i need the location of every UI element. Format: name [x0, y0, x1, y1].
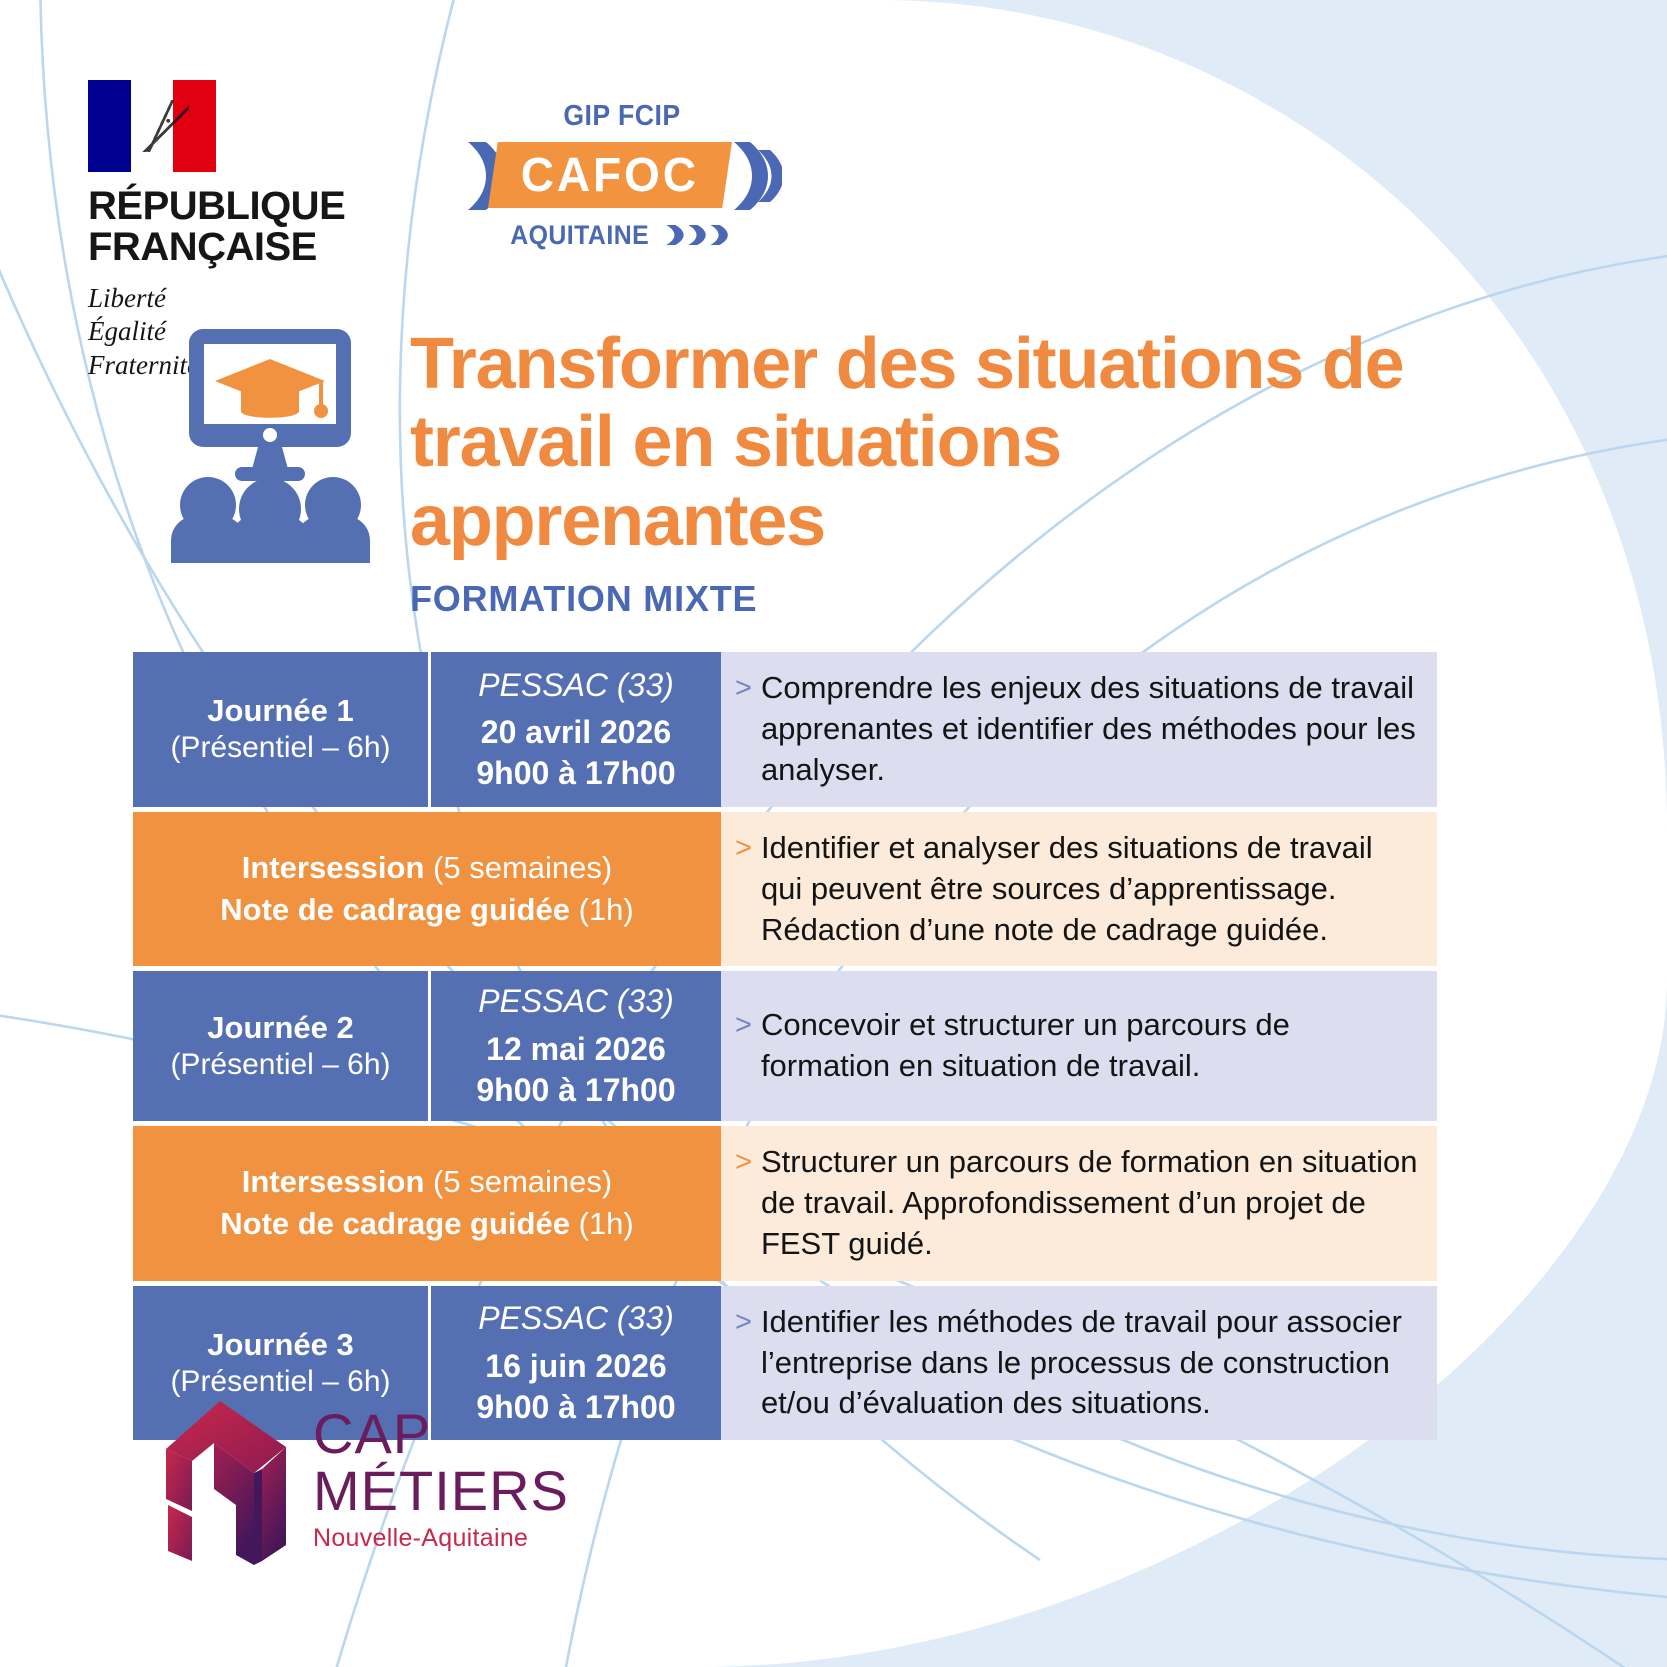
intersession-line-2: Note de cadrage guidée (1h): [220, 889, 633, 931]
session-objective-cell: > Comprendre les enjeux des situations d…: [721, 652, 1437, 807]
page-title: Transformer des situations de travail en…: [410, 325, 1470, 560]
cap-metiers-logo: CAP MÉTIERS Nouvelle-Aquitaine: [158, 1395, 578, 1580]
cafoc-bar-wrap: CAFOC: [462, 136, 782, 216]
session-mode-label: (Présentiel – 6h): [170, 1046, 390, 1084]
session-place-label: PESSAC (33): [478, 1298, 674, 1340]
cafoc-name-bar: CAFOC: [488, 142, 732, 208]
bullet: > Identifier les méthodes de travail pou…: [735, 1302, 1419, 1425]
objective-text: Concevoir et structurer un parcours de f…: [761, 1005, 1419, 1087]
intersession-title: Intersession: [242, 1164, 425, 1199]
session-day-label: Journée 2: [170, 1009, 390, 1046]
cafoc-name-label: CAFOC: [521, 148, 699, 203]
session-hours-label: 9h00 à 17h00: [476, 1070, 675, 1111]
objective-text: Structurer un parcours de formation en s…: [761, 1142, 1419, 1265]
cap-metiers-line1: CAP: [313, 1407, 569, 1462]
row-left-group: Journée 1 (Présentiel – 6h) PESSAC (33) …: [133, 652, 721, 807]
session-date-label: 16 juin 2026: [485, 1346, 666, 1387]
republique-francaise-text: RÉPUBLIQUE FRANÇAISE: [88, 186, 358, 268]
table-row: Journée 1 (Présentiel – 6h) PESSAC (33) …: [133, 652, 1437, 807]
bullet: > Concevoir et structurer un parcours de…: [735, 1005, 1419, 1087]
chevron-right-icon: >: [735, 828, 752, 867]
intersession-line-1: Intersession (5 semaines): [242, 847, 612, 889]
objective-text: Comprendre les enjeux des situations de …: [761, 668, 1419, 791]
intersession-task-duration: (1h): [579, 892, 634, 927]
e-learning-graduation-screen-audience-icon: [163, 323, 378, 563]
intersession-line-1: Intersession (5 semaines): [242, 1161, 612, 1203]
session-place-label: PESSAC (33): [478, 665, 674, 707]
intersession-task: Note de cadrage guidée: [220, 1206, 570, 1241]
session-mode-label: (Présentiel – 6h): [170, 729, 390, 767]
session-objective-cell: > Structurer un parcours de formation en…: [721, 1126, 1437, 1281]
table-row: Intersession (5 semaines) Note de cadrag…: [133, 812, 1437, 967]
chevron-right-icon: >: [735, 668, 752, 707]
cap-metiers-wordmark: CAP MÉTIERS Nouvelle-Aquitaine: [313, 1407, 569, 1553]
bullet: > Comprendre les enjeux des situations d…: [735, 668, 1419, 791]
intersession-title: Intersession: [242, 850, 425, 885]
page-subtitle: FORMATION MIXTE: [410, 578, 757, 620]
session-date-label: 20 avril 2026: [481, 712, 671, 753]
intersession-task: Note de cadrage guidée: [220, 892, 570, 927]
intersession-duration: (5 semaines): [433, 850, 612, 885]
session-day-cell: Journée 1 (Présentiel – 6h): [133, 652, 431, 807]
chevron-right-icon: >: [735, 1142, 752, 1181]
objective-text: Identifier et analyser des situations de…: [761, 828, 1419, 951]
table-row: Intersession (5 semaines) Note de cadrag…: [133, 1126, 1437, 1281]
session-day-label: Journée 3: [170, 1326, 390, 1363]
table-row: Journée 2 (Présentiel – 6h) PESSAC (33) …: [133, 971, 1437, 1121]
intersession-task-duration: (1h): [579, 1206, 634, 1241]
french-flag-marianne-icon: [88, 80, 216, 172]
session-date-label: 12 mai 2026: [486, 1029, 666, 1070]
cafoc-logo: GIP FCIP CAFOC AQUITAINE: [462, 100, 782, 265]
cap-metiers-cube-m-icon: [158, 1395, 308, 1565]
intersession-cell: Intersession (5 semaines) Note de cadrag…: [133, 812, 721, 967]
cafoc-aquitaine-label: AQUITAINE: [475, 220, 769, 251]
session-location-cell: PESSAC (33) 12 mai 2026 9h00 à 17h00: [431, 971, 721, 1121]
session-objective-cell: > Identifier et analyser des situations …: [721, 812, 1437, 967]
cap-metiers-line2: MÉTIERS: [313, 1462, 569, 1520]
intersession-duration: (5 semaines): [433, 1164, 612, 1199]
session-hours-label: 9h00 à 17h00: [476, 753, 675, 794]
session-day-label: Journée 1: [170, 692, 390, 729]
intersession-line-2: Note de cadrage guidée (1h): [220, 1203, 633, 1245]
session-location-cell: PESSAC (33) 20 avril 2026 9h00 à 17h00: [431, 652, 721, 807]
cafoc-gip-fcip-label: GIP FCIP: [475, 100, 769, 133]
bullet: > Identifier et analyser des situations …: [735, 828, 1419, 951]
bullet: > Structurer un parcours de formation en…: [735, 1142, 1419, 1265]
chevron-right-icon: [664, 223, 734, 247]
session-day-cell: Journée 2 (Présentiel – 6h): [133, 971, 431, 1121]
chevron-right-icon: >: [735, 1302, 752, 1341]
objective-text: Identifier les méthodes de travail pour …: [761, 1302, 1419, 1425]
session-objective-cell: > Identifier les méthodes de travail pou…: [721, 1286, 1437, 1441]
cap-metiers-region: Nouvelle-Aquitaine: [313, 1524, 569, 1553]
session-objective-cell: > Concevoir et structurer un parcours de…: [721, 971, 1437, 1121]
intersession-cell: Intersession (5 semaines) Note de cadrag…: [133, 1126, 721, 1281]
schedule-table: Journée 1 (Présentiel – 6h) PESSAC (33) …: [133, 652, 1437, 1440]
session-place-label: PESSAC (33): [478, 981, 674, 1023]
row-left-group: Journée 2 (Présentiel – 6h) PESSAC (33) …: [133, 971, 721, 1121]
chevron-right-icon: >: [735, 1005, 752, 1044]
infographic-page: RÉPUBLIQUE FRANÇAISE Liberté Égalité Fra…: [0, 0, 1667, 1667]
